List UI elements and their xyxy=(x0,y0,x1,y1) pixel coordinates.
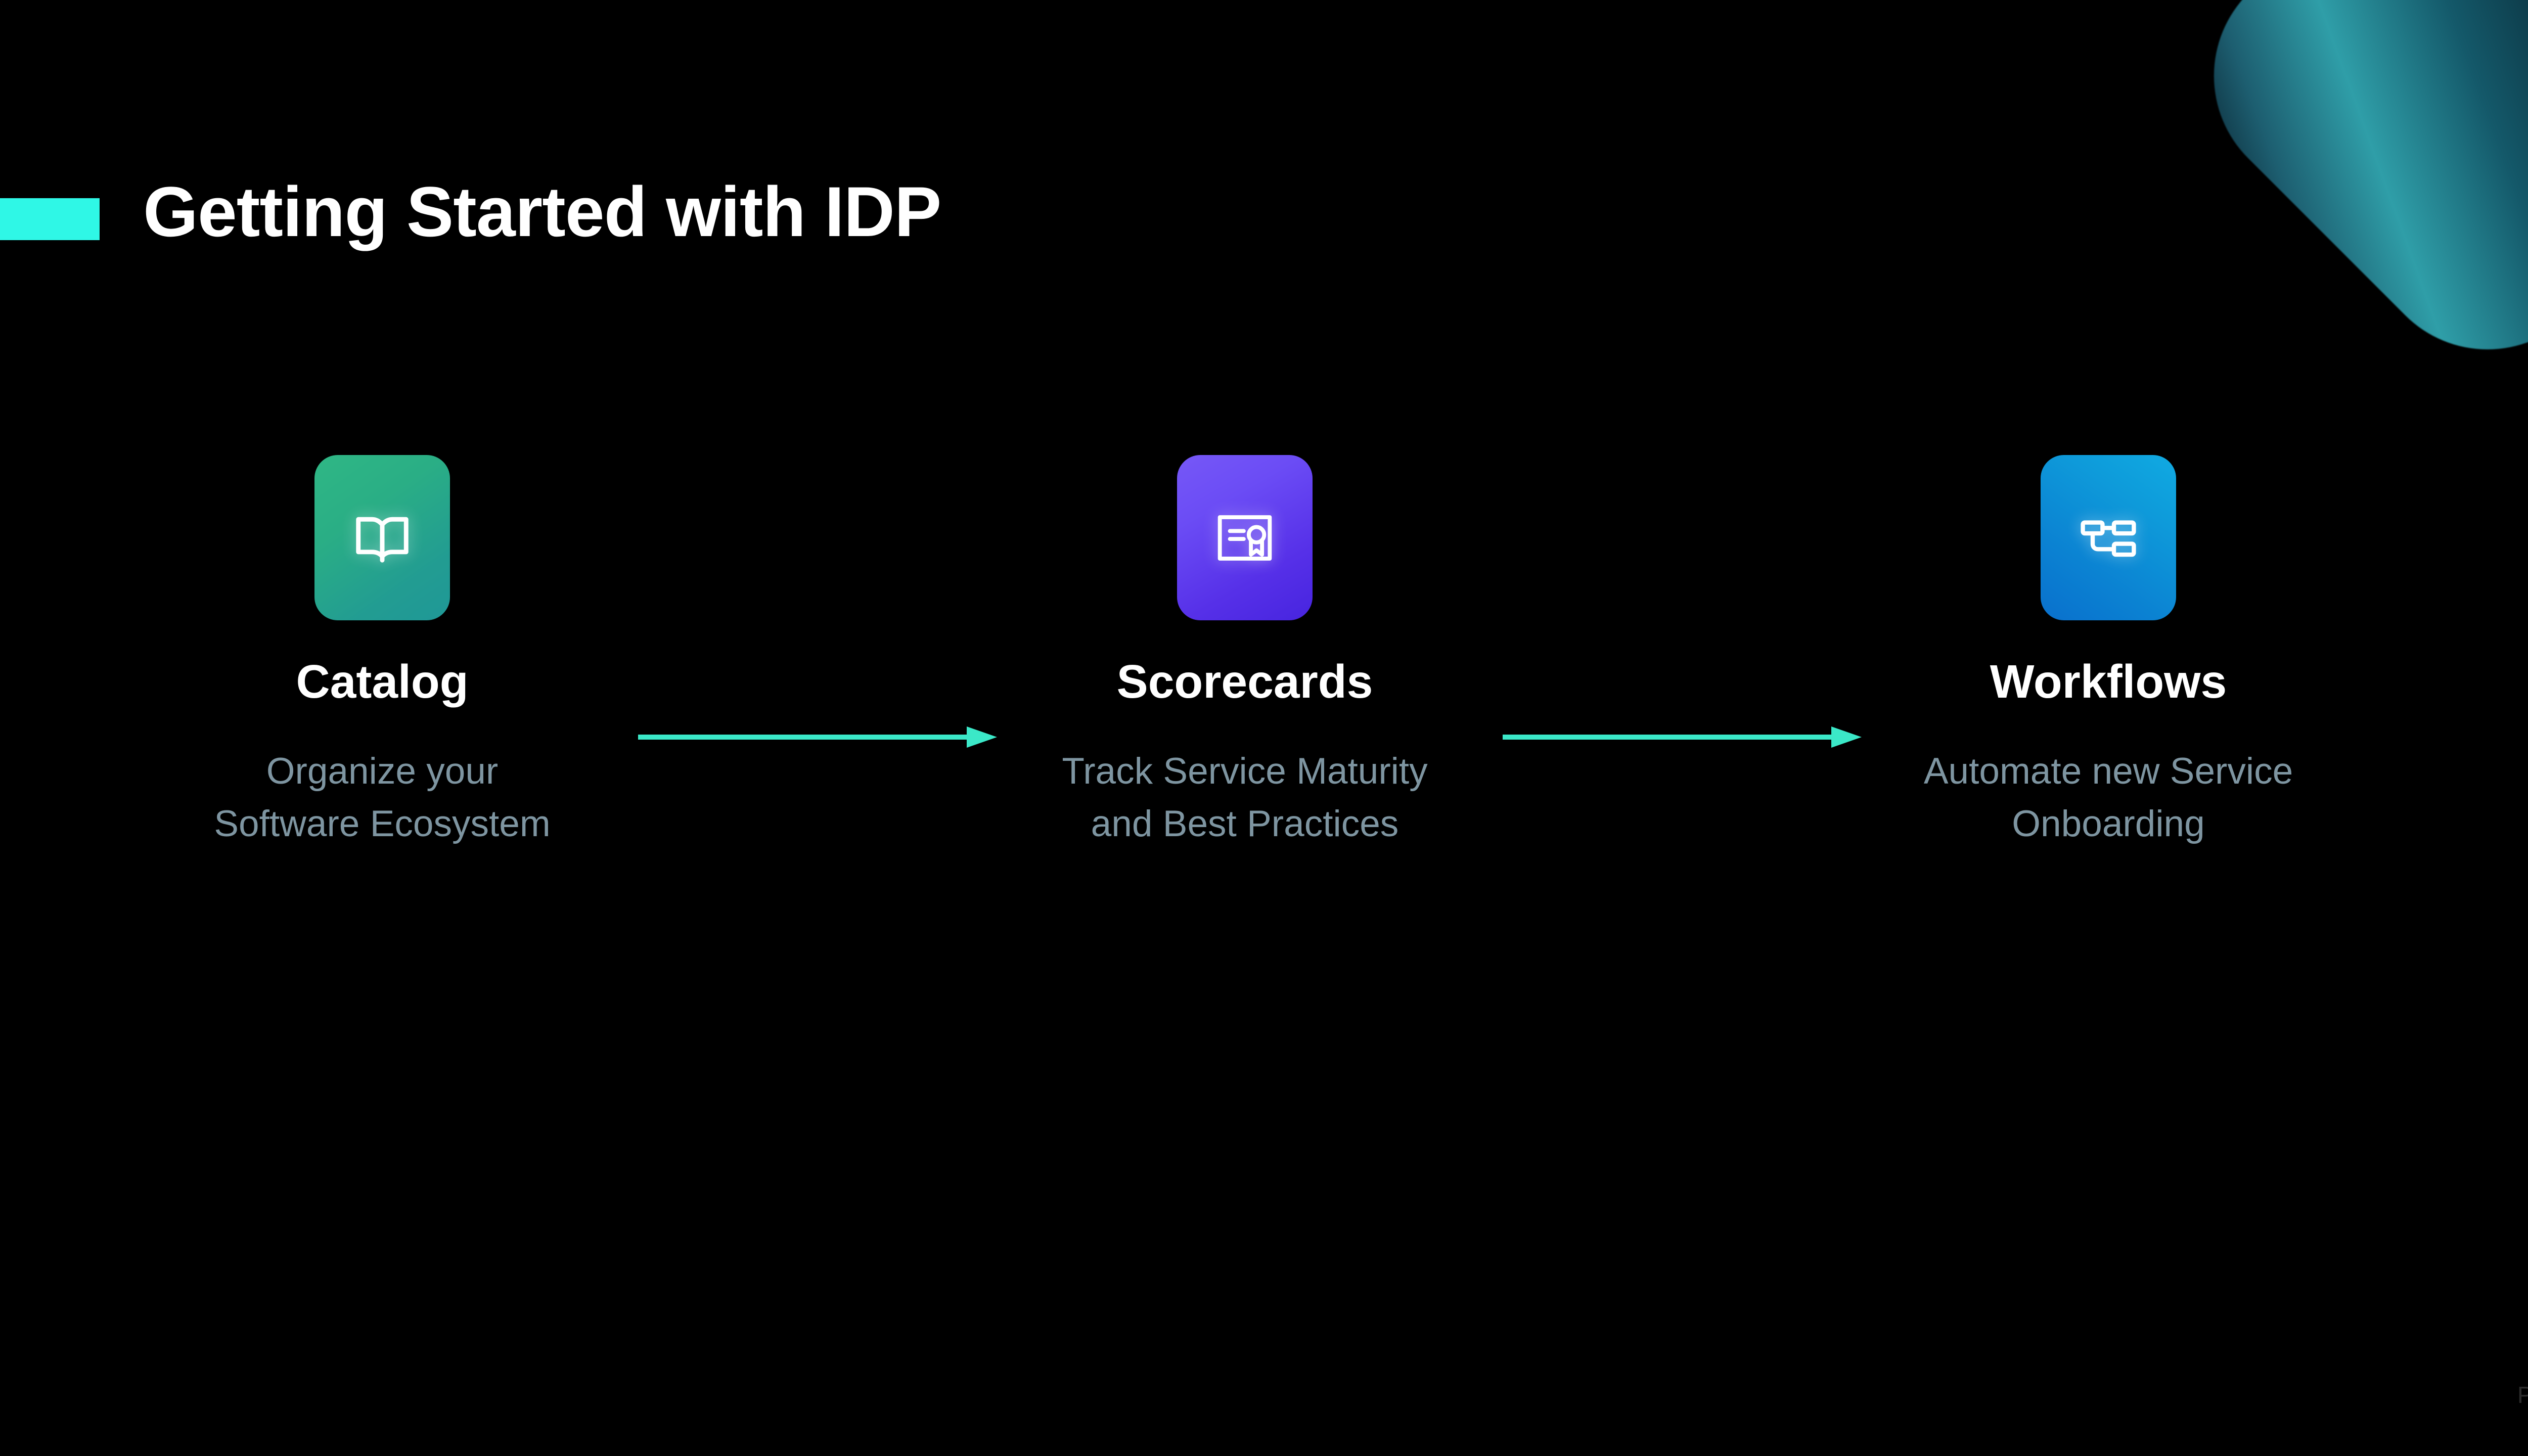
rounded-square-gradient-blob xyxy=(2166,0,2528,397)
node-flowchart-icon xyxy=(2076,506,2140,570)
step-name-workflows: Workflows xyxy=(1990,656,2227,707)
certificate-award-icon xyxy=(1213,506,1277,570)
step-description-workflows: Automate new Service Onboarding xyxy=(1924,745,2293,850)
connector-catalog-to-scorecards xyxy=(638,724,997,750)
workflows-icon-tile[interactable] xyxy=(2041,455,2176,620)
connector-scorecards-to-workflows xyxy=(1503,724,1862,750)
page-title: Getting Started with IDP xyxy=(143,171,941,252)
catalog-icon-tile[interactable] xyxy=(314,455,450,620)
open-book-icon xyxy=(350,506,414,570)
title-accent-bar xyxy=(0,198,100,240)
step-name-scorecards: Scorecards xyxy=(1117,656,1373,707)
page-number: P/1 xyxy=(2517,1381,2528,1408)
step-workflows[interactable]: Workflows Automate new Service Onboardin… xyxy=(1830,455,2386,850)
steps-row: Catalog Organize your Software Ecosystem… xyxy=(0,455,2528,1011)
slide-canvas: Getting Started with IDP Catalog Organiz… xyxy=(0,0,2528,1456)
step-description-catalog: Organize your Software Ecosystem xyxy=(214,745,550,850)
arrow-right-icon xyxy=(1503,724,1862,750)
step-scorecards[interactable]: Scorecards Track Service Maturity and Be… xyxy=(967,455,1523,850)
scorecards-icon-tile[interactable] xyxy=(1177,455,1313,620)
step-name-catalog: Catalog xyxy=(296,656,468,707)
step-catalog[interactable]: Catalog Organize your Software Ecosystem xyxy=(104,455,660,850)
arrow-right-icon xyxy=(638,724,997,750)
step-description-scorecards: Track Service Maturity and Best Practice… xyxy=(1062,745,1427,850)
